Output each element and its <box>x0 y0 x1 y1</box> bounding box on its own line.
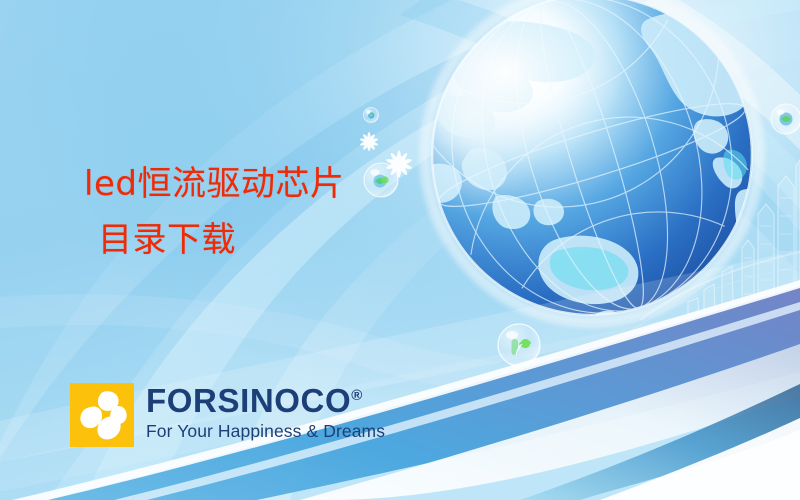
logo-tagline: For Your Happiness & Dreams <box>146 423 385 441</box>
headline-text: led恒流驱动芯片 目录下载 <box>84 163 344 262</box>
headline-line-2: 目录下载 <box>98 219 344 262</box>
logo-wordmark: FORSINOCO® <box>146 384 385 417</box>
headline-line-1: led恒流驱动芯片 <box>84 164 344 204</box>
company-logo[interactable]: FORSINOCO® For Your Happiness & Dreams <box>70 383 385 447</box>
forsinoco-mark-icon <box>70 383 134 447</box>
registered-trademark-icon: ® <box>351 387 362 404</box>
logo-text-block: FORSINOCO® For Your Happiness & Dreams <box>146 383 385 441</box>
promo-banner: led恒流驱动芯片 目录下载 FORSINOCO® For <box>0 0 800 500</box>
logo-wordmark-text: FORSINOCO <box>146 382 351 419</box>
